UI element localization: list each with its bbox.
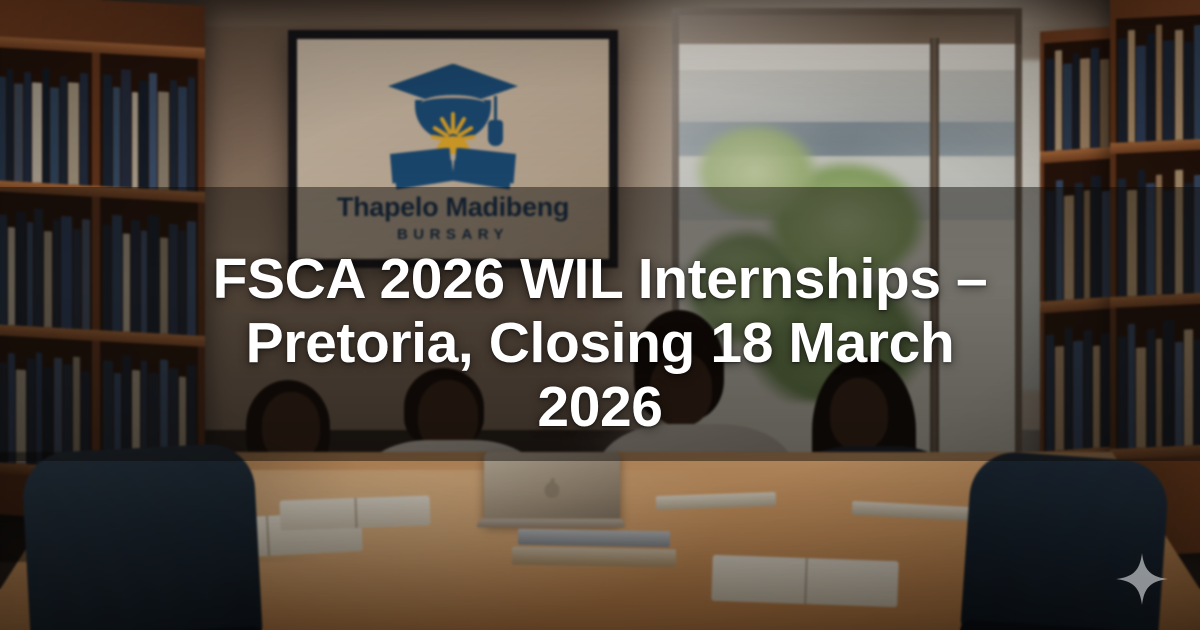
open-book-right — [711, 555, 898, 607]
office-chair-left — [21, 442, 263, 630]
open-book-left-2 — [280, 495, 431, 530]
shelf-bay — [0, 47, 92, 185]
ai-sparkle-icon — [1115, 552, 1169, 606]
stacked-book — [512, 547, 676, 568]
graduation-cap-sunrise-book-icon — [378, 62, 528, 186]
apple-logo-icon — [545, 482, 560, 498]
laptop — [484, 452, 620, 524]
shelf-bay — [100, 53, 198, 191]
banner: Thapelo Madibeng BURSARY — [0, 0, 1200, 630]
page-title: FSCA 2026 WIL Internships – Pretoria, Cl… — [0, 248, 1200, 439]
stacked-notebook — [518, 529, 670, 548]
laptop-base — [476, 519, 626, 528]
